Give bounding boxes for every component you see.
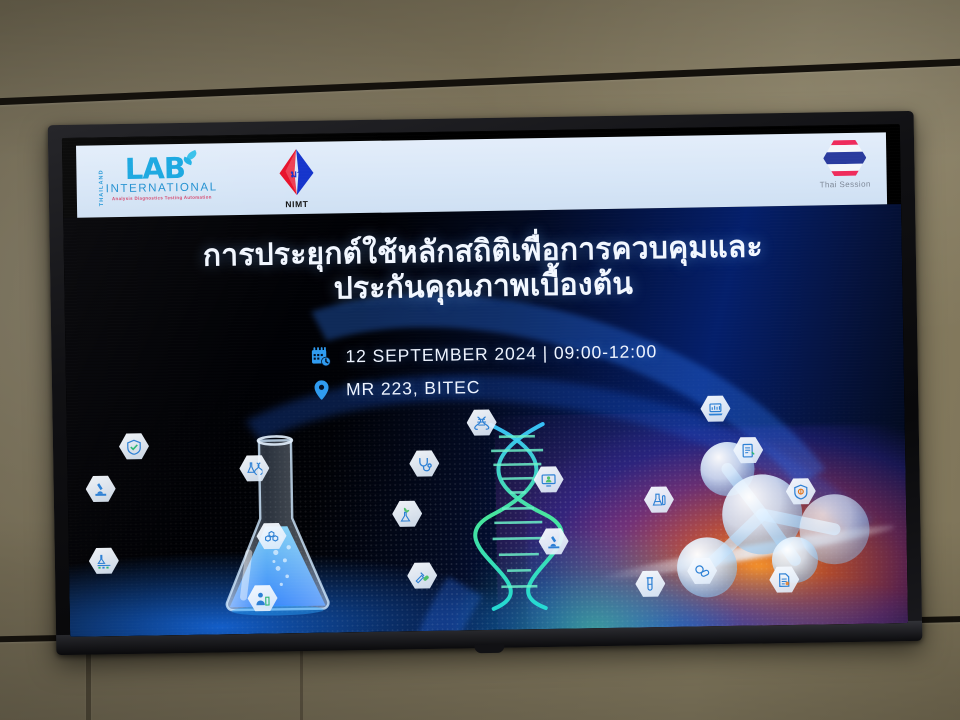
dna-helix-icon xyxy=(465,418,572,616)
logo-lab-row: LAB xyxy=(125,155,198,184)
logo-text-stack: LAB INTERNATIONAL Analysis Diagnostics T… xyxy=(105,154,218,200)
detail-row-date: 12 SEPTEMBER 2024 | 09:00-12:00 xyxy=(309,340,657,369)
svg-text:มว: มว xyxy=(290,169,303,180)
calendar-clock-icon xyxy=(309,346,332,369)
nimt-label: NIMT xyxy=(285,199,308,209)
slide-title: การประยุกต์ใช้หลักสถิติเพื่อการควบคุมและ… xyxy=(64,228,903,311)
thai-flag-hexagon-icon xyxy=(823,139,867,178)
detail-date-text: 12 SEPTEMBER 2024 | 09:00-12:00 xyxy=(345,341,657,367)
header-logo-group: THAILAND LAB INTERNATIONAL Analysis Diag… xyxy=(76,147,324,213)
slide-details: 12 SEPTEMBER 2024 | 09:00-12:00 MR 223, … xyxy=(309,340,658,412)
tv-screen[interactable]: THAILAND LAB INTERNATIONAL Analysis Diag… xyxy=(62,124,908,637)
photo-scene: THAILAND LAB INTERNATIONAL Analysis Diag… xyxy=(0,0,960,720)
logo-lab-word: LAB xyxy=(125,155,185,184)
presentation-slide: THAILAND LAB INTERNATIONAL Analysis Diag… xyxy=(62,124,908,637)
logo-international-text: INTERNATIONAL xyxy=(106,181,218,195)
thailand-lab-international-logo: THAILAND LAB INTERNATIONAL Analysis Diag… xyxy=(98,154,218,206)
logo-thailand-text: THAILAND xyxy=(98,169,105,206)
slide-header-bar: THAILAND LAB INTERNATIONAL Analysis Diag… xyxy=(76,132,887,217)
thai-session-badge: Thai Session xyxy=(819,139,871,190)
tv-ir-sensor xyxy=(474,644,504,653)
leaf-icon xyxy=(183,151,198,169)
nimt-logo: มว NIMT xyxy=(269,147,324,210)
nimt-diamond-icon: มว xyxy=(269,147,324,198)
wall-mounted-television[interactable]: THAILAND LAB INTERNATIONAL Analysis Diag… xyxy=(48,111,923,655)
location-pin-icon xyxy=(310,379,333,402)
logo-tagline: Analysis Diagnostics Testing Automation xyxy=(112,194,212,201)
detail-location-text: MR 223, BITEC xyxy=(346,377,481,400)
thai-session-label: Thai Session xyxy=(820,180,871,190)
detail-row-location: MR 223, BITEC xyxy=(310,373,658,402)
